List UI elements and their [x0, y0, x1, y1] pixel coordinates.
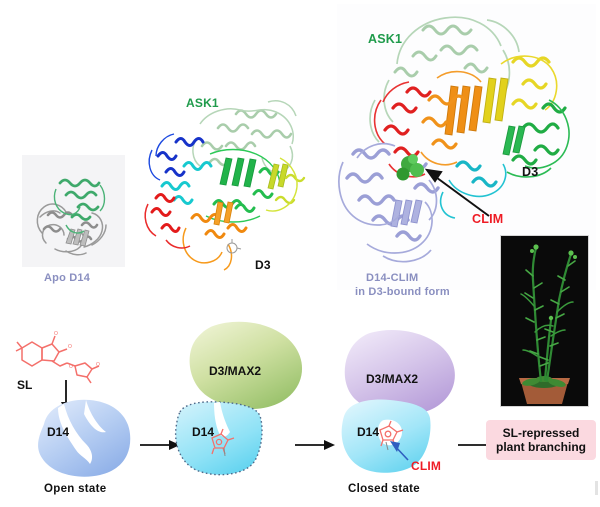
d14-label-intermediate: D14	[192, 425, 214, 439]
apo-d14-ribbon	[22, 155, 125, 267]
ask1-label-panel3: ASK1	[368, 32, 402, 46]
figure-canvas: Apo D14	[0, 0, 600, 507]
complex-caption-line1: D14-CLIM	[366, 272, 418, 284]
structure-panel-d3-ask1	[140, 88, 335, 283]
svg-text:O: O	[68, 344, 72, 350]
strigolactone-structure: O O O O	[14, 328, 100, 380]
d14-open-state-blob	[28, 398, 140, 480]
d3-label-panel3: D3	[522, 165, 538, 179]
page-edge-mark	[595, 481, 598, 495]
svg-text:O: O	[96, 362, 100, 368]
d14-label-closed: D14	[357, 425, 379, 439]
d14-intermediate-blob	[170, 400, 272, 484]
svg-text:O: O	[69, 364, 73, 370]
arabidopsis-plant-illustration	[501, 236, 588, 406]
d3-ask1-ribbon	[140, 88, 335, 283]
complex-caption-line2: in D3-bound form	[355, 286, 450, 298]
clim-label-schematic: CLIM	[411, 459, 441, 473]
plant-photo	[500, 235, 589, 407]
clim-label-panel3: CLIM	[472, 212, 503, 226]
outcome-badge: SL-repressed plant branching	[486, 420, 596, 460]
open-state-label: Open state	[44, 483, 106, 495]
d14-label-open: D14	[47, 425, 69, 439]
d3-max2-label-step2: D3/MAX2	[209, 364, 261, 378]
closed-state-label: Closed state	[348, 483, 420, 495]
d3-max2-label-step3: D3/MAX2	[366, 372, 418, 386]
outcome-line-1: SL-repressed	[496, 426, 586, 440]
ask1-label-panel2: ASK1	[186, 96, 219, 110]
outcome-line-2: plant branching	[496, 440, 586, 454]
structure-panel-apo-d14	[22, 155, 125, 267]
d3-label-panel2: D3	[255, 258, 271, 272]
svg-text:O: O	[54, 331, 58, 337]
sl-label: SL	[17, 378, 32, 392]
apo-d14-caption: Apo D14	[44, 272, 90, 284]
arrow-2	[295, 437, 337, 453]
